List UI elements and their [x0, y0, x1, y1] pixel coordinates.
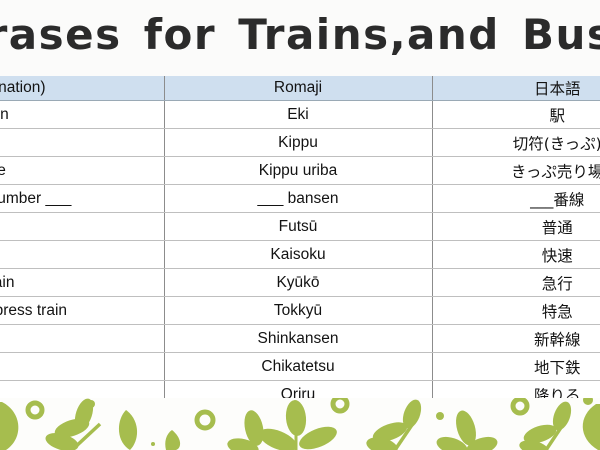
table-row: Train station Eki 駅 [0, 101, 600, 129]
cell-romaji: Kyūkō [164, 269, 432, 297]
cell-english: Local train [0, 213, 164, 241]
cell-english: Ticket office [0, 157, 164, 185]
table-row: To get off Oriru 降りる [0, 381, 600, 399]
cell-japanese: 新幹線 [432, 325, 600, 353]
cell-romaji: ___ bansen [164, 185, 432, 213]
cell-english: Platform Number ___ [0, 185, 164, 213]
cell-japanese: 快速 [432, 241, 600, 269]
cell-japanese: 降りる [432, 381, 600, 399]
leaf-pattern-icon [0, 398, 600, 450]
cell-romaji: Chikatetsu [164, 353, 432, 381]
phrase-table: (and Explanation) Romaji 日本語 Train stati… [0, 76, 600, 398]
table-header-row: (and Explanation) Romaji 日本語 [0, 76, 600, 101]
cell-romaji: Shinkansen [164, 325, 432, 353]
table-row: Ticket office Kippu uriba きっぷ売り場 [0, 157, 600, 185]
cell-romaji: Eki [164, 101, 432, 129]
table-row: Platform Number ___ ___ bansen ___番線 [0, 185, 600, 213]
cell-english: Subway [0, 353, 164, 381]
cell-english: Rapid train [0, 241, 164, 269]
cell-romaji: Kippu [164, 129, 432, 157]
cell-romaji: Kippu uriba [164, 157, 432, 185]
column-header-english: (and Explanation) [0, 76, 164, 101]
page-title: rases for Trains,and Bus [0, 8, 600, 62]
table-row: Local train Futsū 普通 [0, 213, 600, 241]
table-row: Bullet train Shinkansen 新幹線 [0, 325, 600, 353]
cell-english: Express train [0, 269, 164, 297]
cell-english: Bullet train [0, 325, 164, 353]
table-row: Express train Kyūkō 急行 [0, 269, 600, 297]
cell-japanese: 急行 [432, 269, 600, 297]
cell-romaji: Kaisoku [164, 241, 432, 269]
cell-japanese: 普通 [432, 213, 600, 241]
cell-japanese: 特急 [432, 297, 600, 325]
cell-english: Train station [0, 101, 164, 129]
cell-romaji: Oriru [164, 381, 432, 399]
table-row: Ticket Kippu 切符(きっぷ) [0, 129, 600, 157]
cell-romaji: Futsū [164, 213, 432, 241]
title-area: rases for Trains,and Bus [0, 0, 600, 74]
cell-japanese: ___番線 [432, 185, 600, 213]
cell-japanese: 地下鉄 [432, 353, 600, 381]
table-row: Subway Chikatetsu 地下鉄 [0, 353, 600, 381]
table-row: Rapid train Kaisoku 快速 [0, 241, 600, 269]
phrase-table-container: (and Explanation) Romaji 日本語 Train stati… [0, 76, 600, 398]
cell-japanese: 駅 [432, 101, 600, 129]
leaf-border-decoration [0, 398, 600, 450]
slide-canvas: rases for Trains,and Bus (and Explanatio… [0, 0, 600, 450]
cell-english: To get off [0, 381, 164, 399]
cell-english: Ticket [0, 129, 164, 157]
cell-romaji: Tokkyū [164, 297, 432, 325]
column-header-japanese: 日本語 [432, 76, 600, 101]
cell-japanese: きっぷ売り場 [432, 157, 600, 185]
column-header-romaji: Romaji [164, 76, 432, 101]
cell-english: Limited express train [0, 297, 164, 325]
table-row: Limited express train Tokkyū 特急 [0, 297, 600, 325]
cell-japanese: 切符(きっぷ) [432, 129, 600, 157]
